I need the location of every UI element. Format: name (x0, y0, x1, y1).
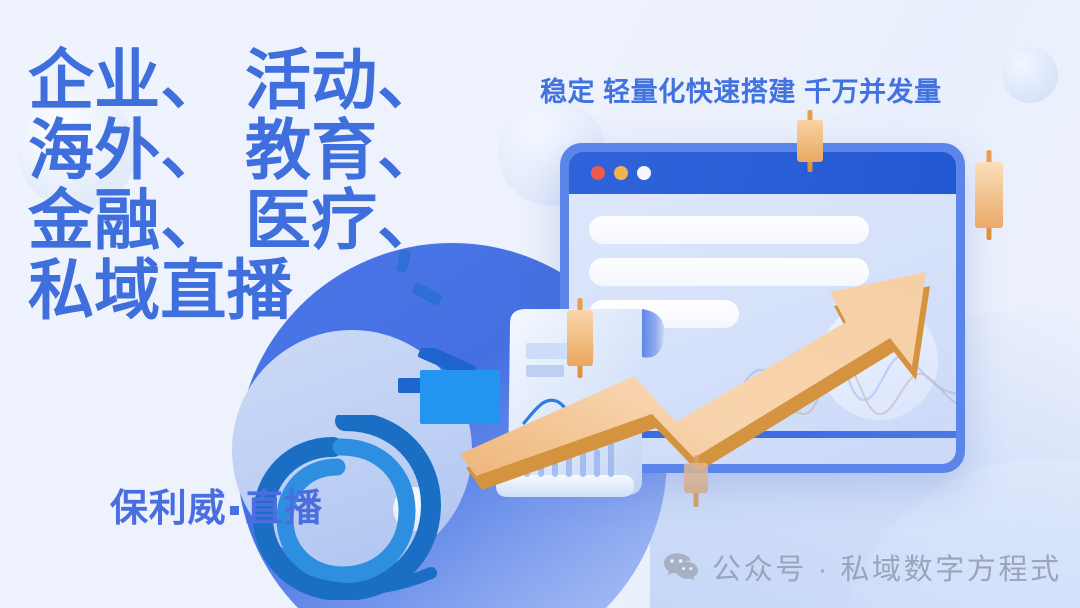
headline-line-2: 海外、 教育、 (28, 116, 443, 186)
growth-arrow-icon (430, 240, 1040, 490)
candlestick-icon (684, 455, 708, 507)
wechat-icon (663, 552, 699, 582)
wechat-attribution: 公众号 · 私域数字方程式 (663, 546, 1062, 588)
logo-separator-dot (230, 506, 239, 515)
tagline: 稳定 轻量化快速搭建 千万并发量 (540, 70, 942, 109)
brand-logo-lockup: 保利威直播 (110, 415, 440, 600)
product-name: 直播 (245, 488, 323, 530)
brand-name: 保利威 (110, 488, 226, 530)
wechat-label: 公众号 · 私域数字方程式 (712, 546, 1062, 588)
minimize-dot-icon (614, 166, 628, 180)
brand-logo-text: 保利威直播 (110, 477, 323, 532)
candlestick-body (684, 463, 708, 493)
candlestick-body (975, 162, 1003, 228)
maximize-dot-icon (637, 166, 651, 180)
candlestick-body (567, 310, 593, 366)
headline-line-4: 私域直播 (28, 256, 443, 326)
candlestick-body (797, 120, 823, 162)
window-titlebar (569, 152, 956, 194)
candlestick-icon (975, 150, 1003, 240)
headline-line-1: 企业、 活动、 (28, 46, 443, 116)
window-traffic-lights (591, 166, 651, 180)
page-title: 企业、 活动、 海外、 教育、 金融、 医疗、 私域直播 (28, 46, 443, 326)
close-dot-icon (591, 166, 605, 180)
candlestick-icon (567, 298, 593, 378)
decor-circle-top-right (1002, 47, 1058, 103)
headline-line-3: 金融、 医疗、 (28, 186, 443, 256)
marketing-banner: 企业、 活动、 海外、 教育、 金融、 医疗、 私域直播 稳定 轻量化快速搭建 … (0, 0, 1080, 608)
candlestick-icon (797, 110, 823, 172)
